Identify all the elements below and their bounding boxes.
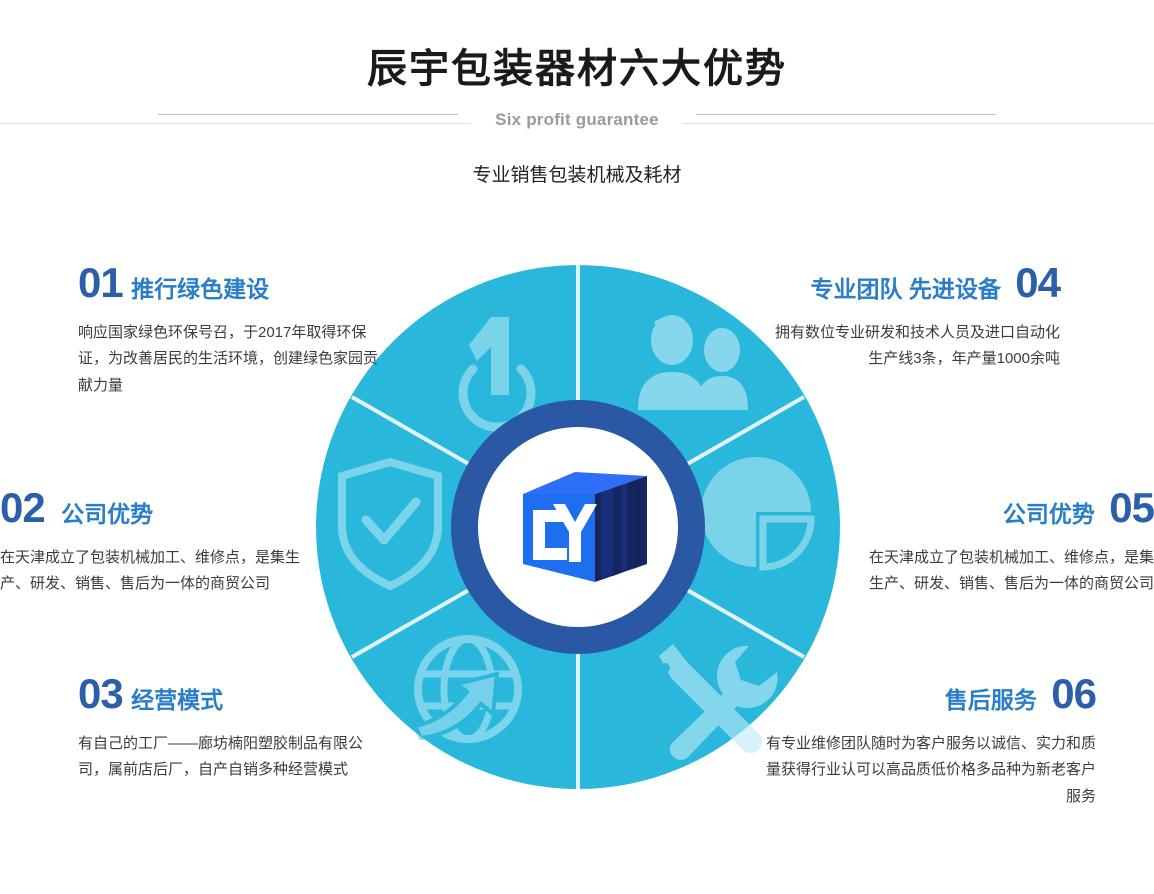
feature-02-label: 公司优势 [61,501,153,527]
feature-05: 公司优势 05 在天津成立了包装机械加工、维修点，是集生产、研发、销售、售后为一… [855,487,1154,598]
pie-chart-icon [701,457,811,567]
feature-01: 01 推行绿色建设 响应国家绿色环保号召，于2017年取得环保证，为改善居民的生… [78,262,378,399]
feature-06-body: 有专业维修团队随时为客户服务以诚信、实力和质量获得行业认可以高品质低价格多品种为… [760,731,1096,810]
subtitle-chinese: 专业销售包装机械及耗材 [0,160,1154,187]
feature-02-body: 在天津成立了包装机械加工、维修点，是集生产、研发、销售、售后为一体的商贸公司 [0,545,300,598]
feature-04-number: 04 [1015,259,1060,306]
feature-04-heading: 专业团队 先进设备 04 [775,262,1060,304]
feature-04: 专业团队 先进设备 04 拥有数位专业研发和技术人员及进口自动化生产线3条，年产… [775,262,1060,373]
page-title: 辰宇包装器材六大优势 [0,36,1154,94]
subtitle-english-text: Six profit guarantee [471,110,683,129]
feature-03: 03 经营模式 有自己的工厂——廊坊楠阳塑胶制品有限公司，属前店后厂，自产自销多… [78,673,388,784]
feature-02-heading: 02 公司优势 [0,487,300,529]
feature-01-heading: 01 推行绿色建设 [78,262,378,304]
subtitle-english: Six profit guarantee [0,110,1154,130]
feature-03-label: 经营模式 [131,687,223,713]
package-box-cy-logo [523,472,647,582]
feature-05-heading: 公司优势 05 [855,487,1154,529]
feature-04-body: 拥有数位专业研发和技术人员及进口自动化生产线3条，年产量1000余吨 [775,320,1060,373]
feature-06: 售后服务 06 有专业维修团队随时为客户服务以诚信、实力和质量获得行业认可以高品… [760,673,1096,810]
feature-03-number: 03 [78,670,123,717]
feature-04-label: 专业团队 先进设备 [810,276,1000,302]
feature-02-number: 02 [0,484,45,531]
page-header: 辰宇包装器材六大优势 Six profit guarantee 专业销售包装机械… [0,0,1154,215]
feature-06-heading: 售后服务 06 [760,673,1096,715]
feature-05-body: 在天津成立了包装机械加工、维修点，是集生产、研发、销售、售后为一体的商贸公司 [855,545,1154,598]
feature-03-body: 有自己的工厂——廊坊楠阳塑胶制品有限公司，属前店后厂，自产自销多种经营模式 [78,731,388,784]
feature-03-heading: 03 经营模式 [78,673,388,715]
feature-01-body: 响应国家绿色环保号召，于2017年取得环保证，为改善居民的生活环境，创建绿色家园… [78,320,378,399]
feature-05-label: 公司优势 [1003,501,1095,527]
feature-06-number: 06 [1051,670,1096,717]
feature-02: 02 公司优势 在天津成立了包装机械加工、维修点，是集生产、研发、销售、售后为一… [0,487,300,598]
feature-06-label: 售后服务 [945,687,1037,713]
feature-05-number: 05 [1109,484,1154,531]
feature-01-number: 01 [78,259,123,306]
feature-01-label: 推行绿色建设 [131,276,269,302]
